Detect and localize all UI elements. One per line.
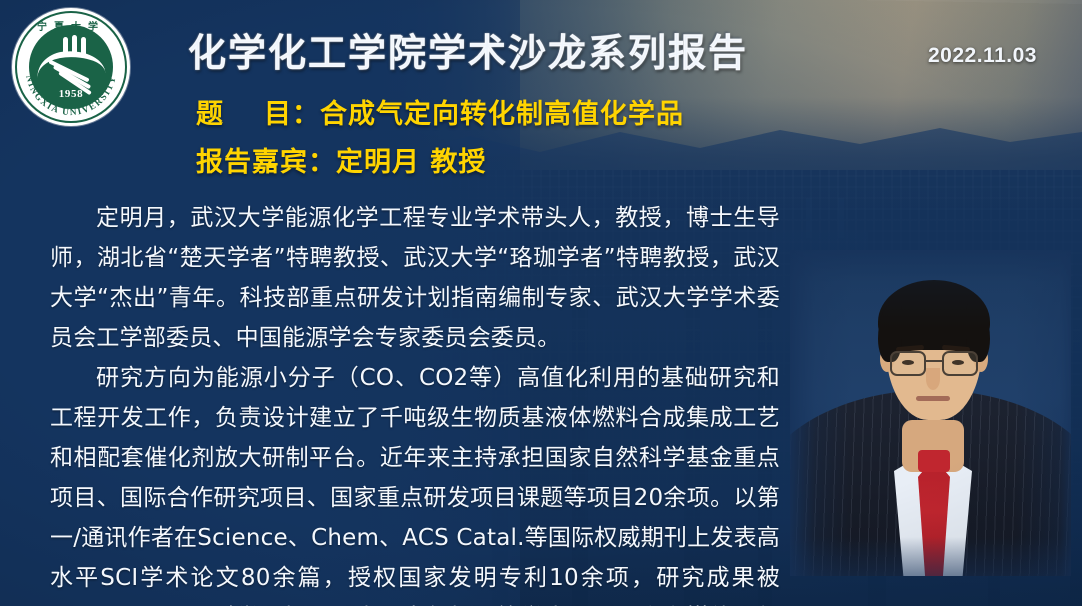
speaker-label: 报告嘉宾： xyxy=(196,140,336,179)
bio-paragraph-1: 定明月，武汉大学能源化学工程专业学术带头人，教授，博士生导师，湖北省“楚天学者”… xyxy=(50,198,780,358)
speaker-name: 定明月 xyxy=(336,147,420,178)
logo-inner-disc: 1958 xyxy=(29,25,113,109)
seminar-poster: 宁夏大学 NINGXIA UNIVERSITY 1958 化学化工学院学术沙龙系… xyxy=(0,0,1082,606)
speaker-row: 报告嘉宾：定明月 教授 xyxy=(196,140,486,179)
topic-label-1: 题 xyxy=(196,92,224,131)
logo-stroke-3 xyxy=(81,37,86,57)
event-date: 2022.11.03 xyxy=(928,44,1037,68)
topic-label-2: 目： xyxy=(264,92,320,131)
speaker-biography: 定明月，武汉大学能源化学工程专业学术带头人，教授，博士生导师，湖北省“楚天学者”… xyxy=(50,198,780,606)
topic-value: 合成气定向转化制高值化学品 xyxy=(320,99,684,130)
bio-paragraph-2: 研究方向为能源小分子（CO、CO2等）高值化利用的基础研究和工程开发工作，负责设… xyxy=(50,358,780,606)
logo-founding-year: 1958 xyxy=(29,88,113,100)
logo-stroke-2 xyxy=(72,35,77,57)
university-logo: 宁夏大学 NINGXIA UNIVERSITY 1958 xyxy=(12,8,130,126)
topic-row: 题目：合成气定向转化制高值化学品 xyxy=(196,92,684,131)
speaker-title: 教授 xyxy=(430,147,486,178)
page-title: 化学化工学院学术沙龙系列报告 xyxy=(188,22,748,77)
logo-stroke-1 xyxy=(63,37,68,57)
